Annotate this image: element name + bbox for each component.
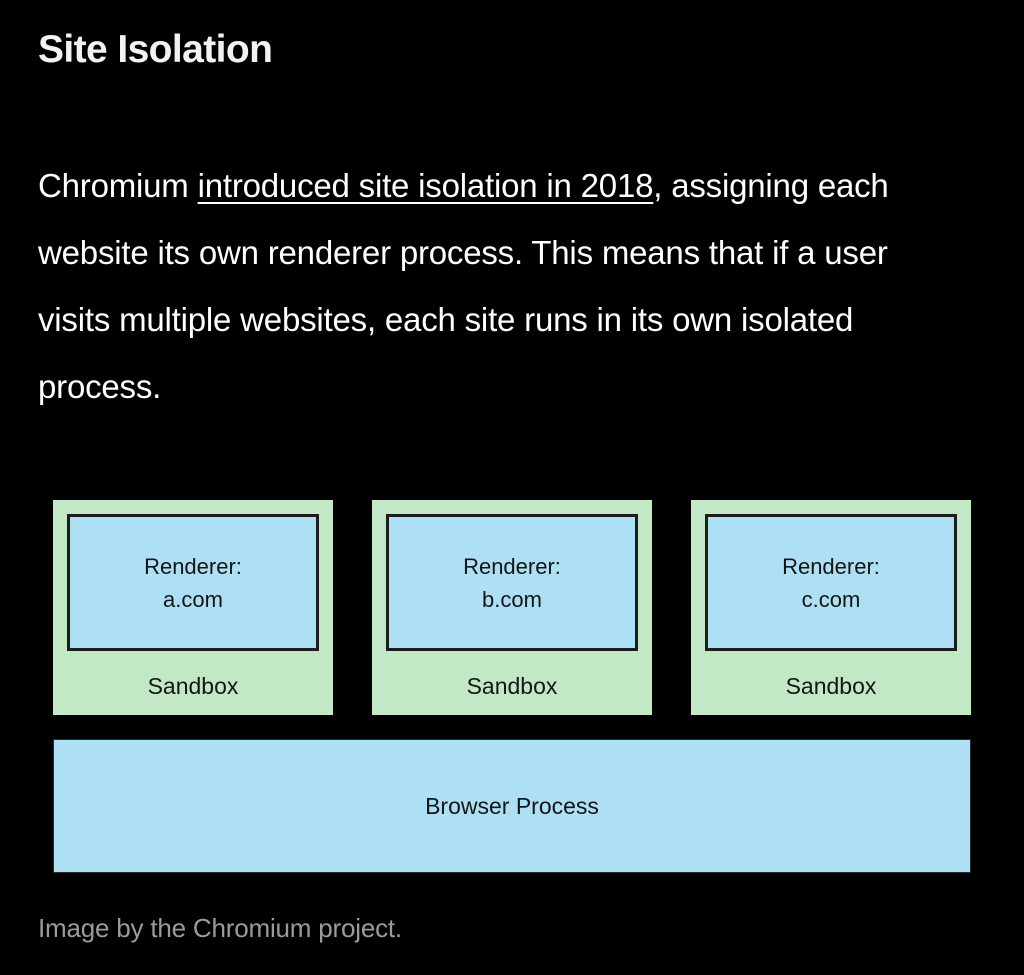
site-isolation-link[interactable]: introduced site isolation in 2018: [198, 167, 654, 204]
sandbox-row: Renderer: a.com Sandbox Renderer: b.com …: [53, 500, 971, 715]
renderer-label-a: Renderer:: [144, 550, 242, 583]
sandbox-label-b: Sandbox: [467, 673, 558, 699]
browser-process-label: Browser Process: [425, 793, 599, 820]
sandbox-label-c: Sandbox: [786, 673, 877, 699]
sandbox-container-b: Renderer: b.com Sandbox: [372, 500, 652, 715]
renderer-process-a: Renderer: a.com: [67, 514, 319, 651]
renderer-site-c: c.com: [802, 583, 861, 616]
site-isolation-diagram: Renderer: a.com Sandbox Renderer: b.com …: [53, 500, 971, 873]
figure-caption: Image by the Chromium project.: [38, 910, 402, 946]
sandbox-container-c: Renderer: c.com Sandbox: [691, 500, 971, 715]
article-page: Site Isolation Chromium introduced site …: [0, 0, 1024, 975]
paragraph-lead-text: Chromium: [38, 167, 198, 204]
sandbox-container-a: Renderer: a.com Sandbox: [53, 500, 333, 715]
page-title: Site Isolation: [38, 26, 272, 74]
article-paragraph: Chromium introduced site isolation in 20…: [38, 152, 968, 420]
renderer-label-c: Renderer:: [782, 550, 880, 583]
renderer-process-b: Renderer: b.com: [386, 514, 638, 651]
renderer-site-a: a.com: [163, 583, 223, 616]
renderer-label-b: Renderer:: [463, 550, 561, 583]
renderer-process-c: Renderer: c.com: [705, 514, 957, 651]
renderer-site-b: b.com: [482, 583, 542, 616]
browser-process-box: Browser Process: [53, 739, 971, 873]
sandbox-label-a: Sandbox: [148, 673, 239, 699]
